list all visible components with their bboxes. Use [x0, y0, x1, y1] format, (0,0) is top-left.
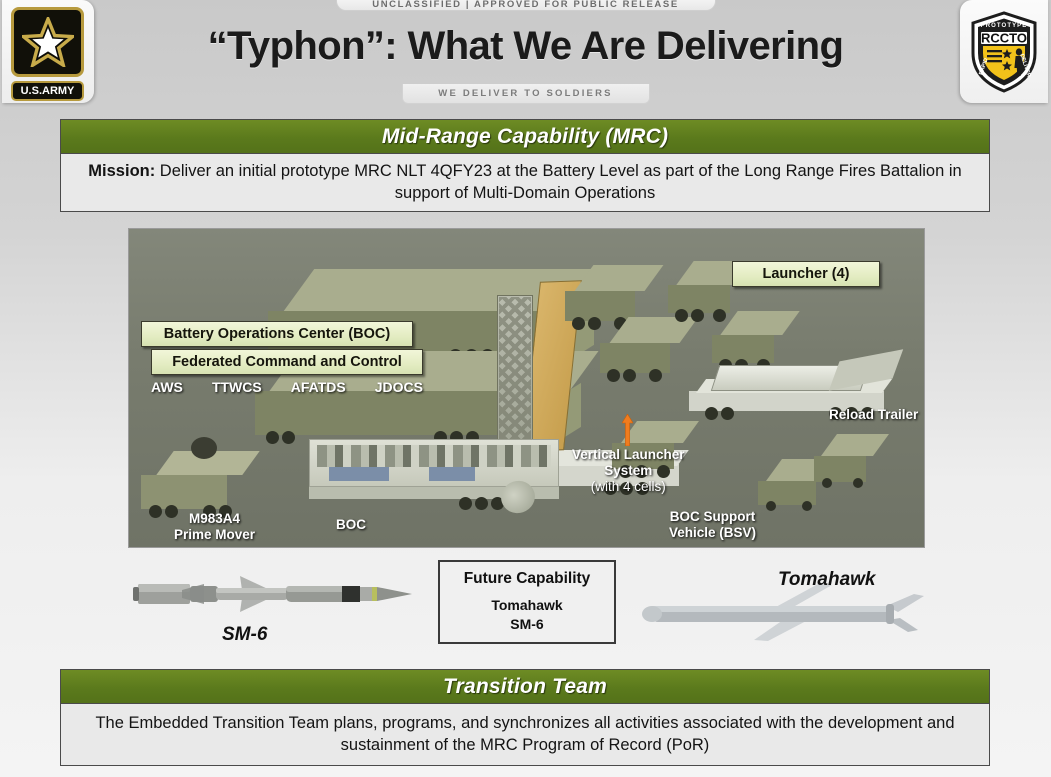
- sm6-missile-image: [130, 566, 420, 622]
- slide-canvas: UNCLASSIFIED | APPROVED FOR PUBLIC RELEA…: [0, 0, 1051, 777]
- prime-mover-line1: M983A4: [174, 511, 255, 527]
- callout-launcher[interactable]: Launcher (4): [732, 261, 880, 287]
- vls-line3: (with 4 cells): [572, 479, 685, 495]
- callout-battery-operations-center[interactable]: Battery Operations Center (BOC): [141, 321, 413, 347]
- rccto-shield-icon: RCCTO PROTOTYPE RAPID DELIVER: [967, 9, 1041, 95]
- future-capability-box: Future Capability Tomahawk SM-6: [438, 560, 616, 644]
- mrc-panel-header: Mid-Range Capability (MRC): [60, 119, 990, 154]
- callout-launcher-label: Launcher (4): [762, 266, 849, 282]
- label-reload-trailer: Reload Trailer: [829, 407, 918, 423]
- vls-line2: System: [572, 463, 685, 479]
- bsv-line1: BOC Support: [669, 509, 756, 525]
- tomahawk-label: Tomahawk: [778, 569, 876, 591]
- prime-mover-line2: Prime Mover: [174, 527, 255, 543]
- mrc-battery-diagram: Battery Operations Center (BOC) Federate…: [128, 228, 925, 548]
- bsv-line2: Vehicle (BSV): [669, 525, 756, 541]
- mrc-panel-title: Mid-Range Capability (MRC): [382, 125, 668, 149]
- svg-text:RCCTO: RCCTO: [981, 30, 1027, 45]
- page-title: “Typhon”: What We Are Delivering: [0, 24, 1051, 69]
- tagline-banner: WE DELIVER TO SOLDIERS: [402, 84, 650, 104]
- slide-header: U.S.ARMY “Typhon”: What We Are Deliverin…: [0, 0, 1051, 112]
- callout-fc2-label: Federated Command and Control: [172, 354, 402, 370]
- mission-text: Deliver an initial prototype MRC NLT 4QF…: [155, 162, 961, 202]
- tomahawk-missile-image: [636, 582, 926, 644]
- callout-boc-label: Battery Operations Center (BOC): [164, 326, 390, 342]
- tagline-text: WE DELIVER TO SOLDIERS: [438, 88, 612, 99]
- label-vertical-launcher-system: Vertical Launcher System (with 4 cells): [572, 447, 685, 495]
- c2-system-afatds: AFATDS: [291, 379, 346, 395]
- svg-text:PROTOTYPE: PROTOTYPE: [981, 23, 1028, 29]
- transition-team-text: The Embedded Transition Team plans, prog…: [77, 713, 973, 757]
- future-item-sm6: SM-6: [491, 615, 562, 634]
- transition-team-title: Transition Team: [443, 675, 607, 699]
- transition-team-body: The Embedded Transition Team plans, prog…: [60, 704, 990, 766]
- c2-system-ttwcs: TTWCS: [212, 379, 262, 395]
- rccto-logo: RCCTO PROTOTYPE RAPID DELIVER: [960, 0, 1048, 103]
- future-item-tomahawk: Tomahawk: [491, 596, 562, 615]
- army-wordmark: U.S.ARMY: [11, 81, 84, 101]
- c2-systems-list: AWS TTWCS AFATDS JDOCS: [151, 379, 423, 395]
- vls-line1: Vertical Launcher: [572, 447, 685, 463]
- mrc-panel-body: Mission: Deliver an initial prototype MR…: [60, 154, 990, 212]
- mission-label: Mission:: [88, 162, 155, 180]
- army-wordmark-text: U.S.ARMY: [21, 85, 75, 97]
- mission-statement: Mission: Deliver an initial prototype MR…: [77, 161, 973, 205]
- future-capability-title: Future Capability: [464, 570, 591, 588]
- label-boc-support-vehicle: BOC Support Vehicle (BSV): [669, 509, 756, 541]
- label-prime-mover: M983A4 Prime Mover: [174, 511, 255, 543]
- sm6-label: SM-6: [222, 624, 267, 646]
- c2-system-jdocs: JDOCS: [375, 379, 423, 395]
- mrc-panel: Mid-Range Capability (MRC) Mission: Deli…: [60, 119, 990, 212]
- callout-federated-command-and-control[interactable]: Federated Command and Control: [151, 349, 423, 375]
- transition-team-panel: Transition Team The Embedded Transition …: [60, 669, 990, 766]
- vls-pointer-arrow-icon: [622, 414, 633, 446]
- c2-system-aws: AWS: [151, 379, 183, 395]
- transition-team-header: Transition Team: [60, 669, 990, 704]
- future-capability-items: Tomahawk SM-6: [491, 596, 562, 634]
- label-boc-vehicle: BOC: [336, 517, 366, 533]
